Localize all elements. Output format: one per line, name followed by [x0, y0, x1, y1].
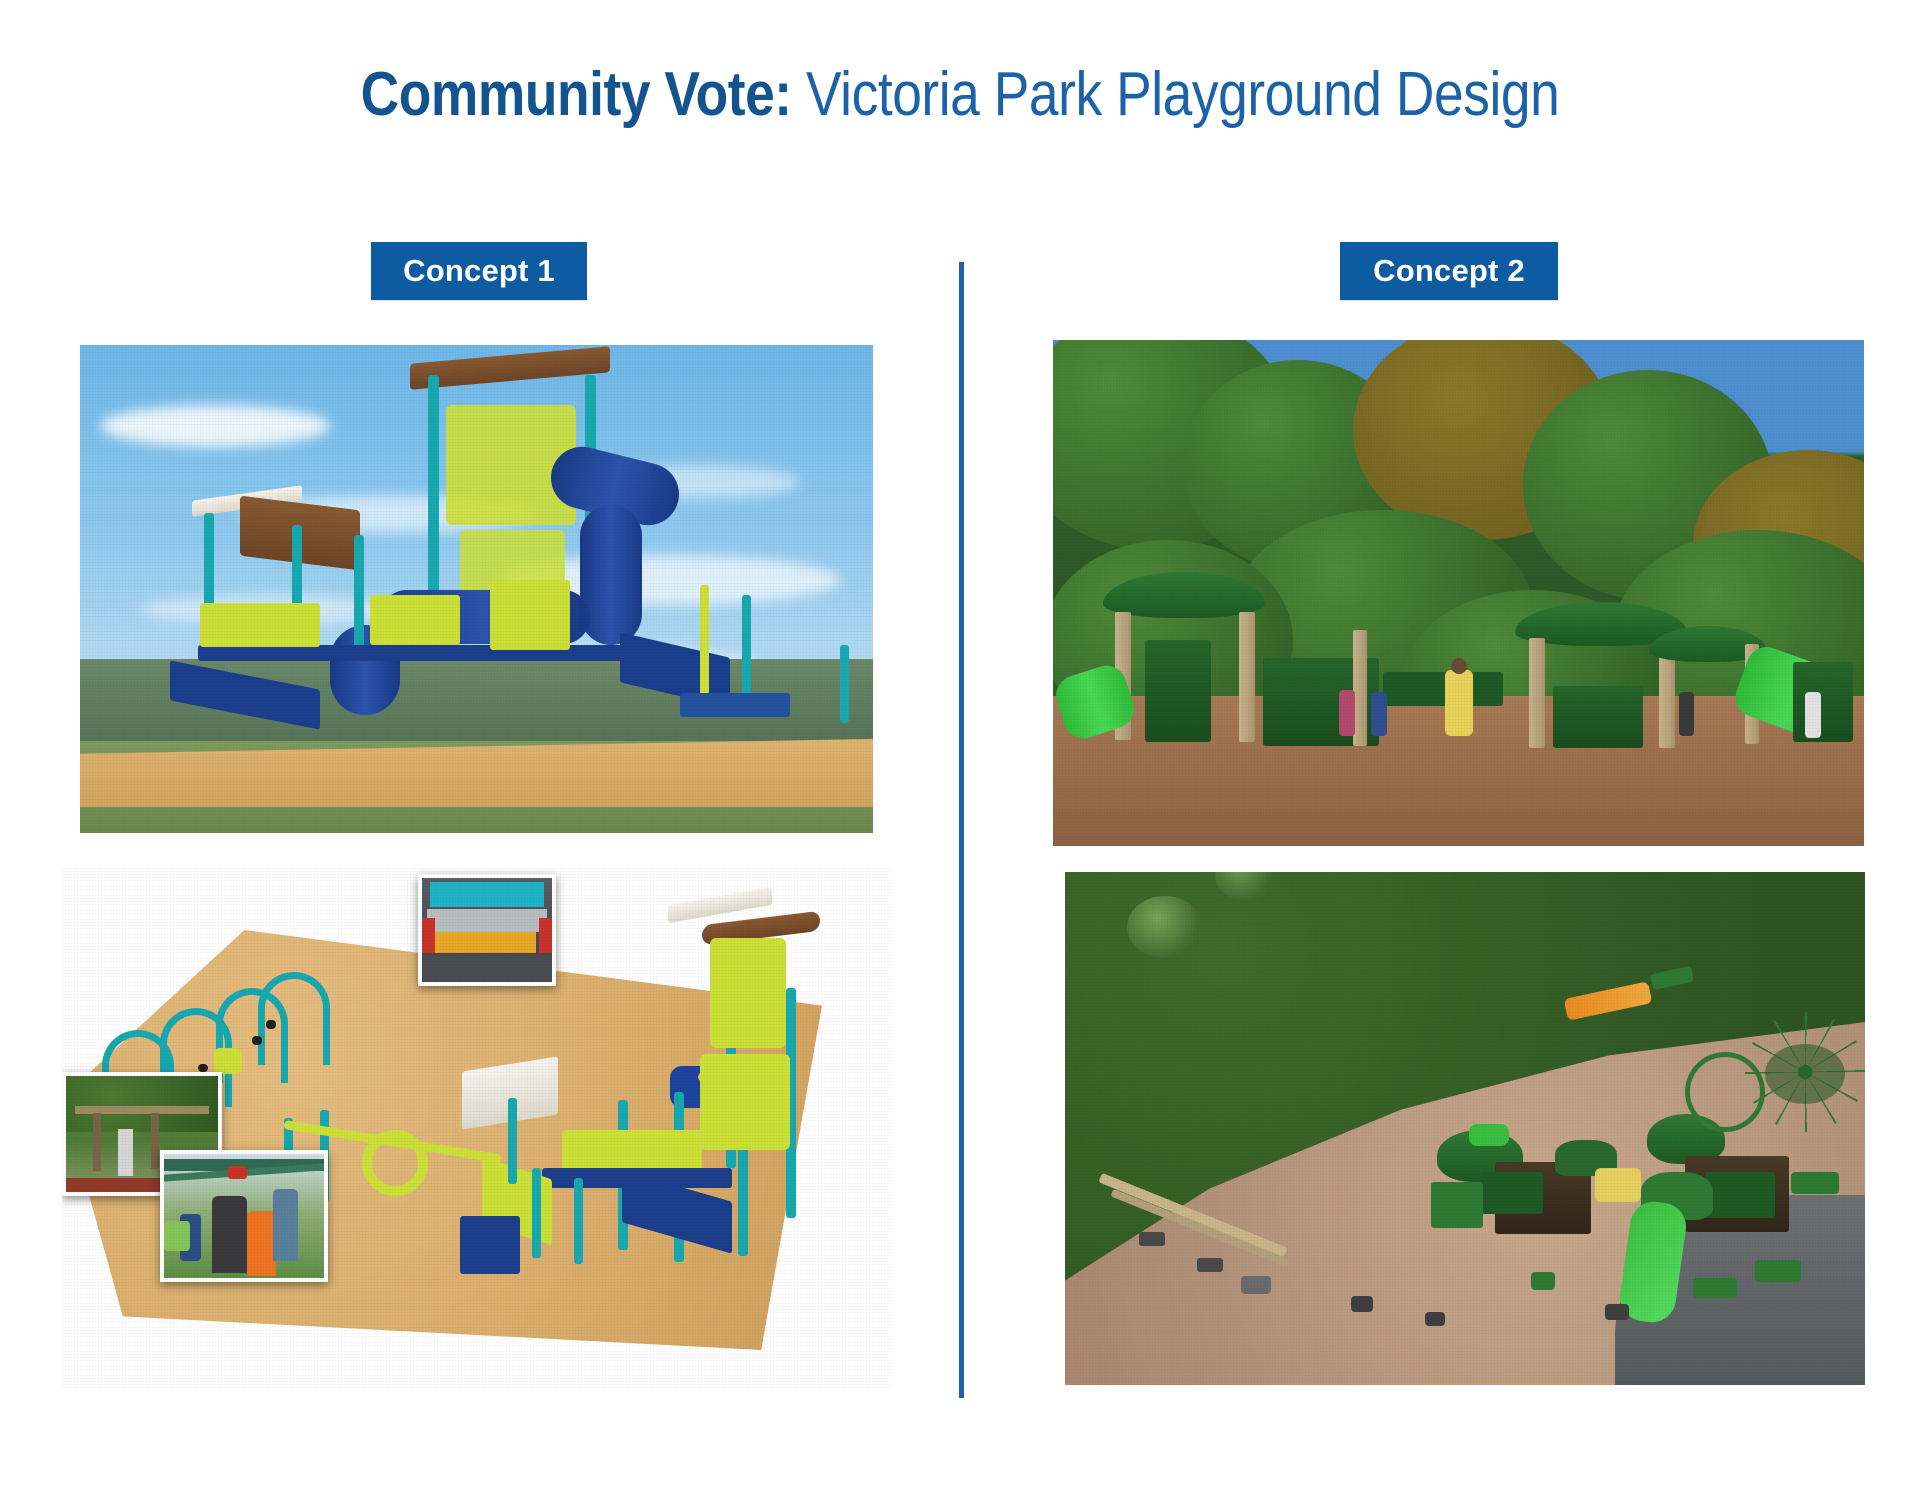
- bench-plan: [1693, 1278, 1737, 1298]
- page-title-strong: Community Vote:: [361, 60, 792, 129]
- concept-1-badge[interactable]: Concept 1: [371, 242, 587, 300]
- structure-post: [428, 375, 439, 625]
- structure-post: [742, 595, 751, 700]
- play-element-plan: [1425, 1312, 1445, 1326]
- guard-panel: [200, 603, 320, 647]
- swing-seat: [266, 1020, 276, 1029]
- structure-post: [840, 645, 849, 723]
- slide-plan: [1469, 1124, 1509, 1146]
- structure-post: [1239, 612, 1255, 742]
- swing-seat: [252, 1036, 262, 1045]
- child-figure: [1445, 670, 1473, 736]
- column-divider: [959, 262, 964, 1398]
- swing-seat-plan: [1197, 1258, 1223, 1272]
- play-element-plan: [1351, 1296, 1373, 1312]
- inset-equipment-detail[interactable]: [418, 874, 556, 986]
- swing-seat: [198, 1064, 208, 1072]
- structure-post: [574, 1178, 583, 1264]
- play-element-plan: [1531, 1272, 1555, 1290]
- swing-seat-plan: [1139, 1232, 1165, 1246]
- cloud: [100, 405, 330, 447]
- activity-panel: [1553, 686, 1643, 748]
- play-element-plan: [1605, 1304, 1629, 1320]
- child-figure: [1805, 692, 1821, 738]
- climbing-net: [710, 938, 786, 1048]
- activity-panel: [1145, 640, 1211, 742]
- concept-2-badge[interactable]: Concept 2: [1340, 242, 1558, 300]
- child-figure: [1679, 692, 1694, 736]
- inset-zipline-riders[interactable]: [160, 1150, 328, 1282]
- bridge-rail: [1383, 672, 1503, 706]
- page-title: Community Vote: Victoria Park Playground…: [134, 62, 1785, 127]
- deck: [680, 693, 790, 717]
- structure-post: [700, 585, 709, 695]
- guard-panel: [490, 580, 570, 650]
- child-figure: [1339, 690, 1355, 736]
- page-title-light: Victoria Park Playground Design: [792, 60, 1560, 129]
- concept-2-aerial-render[interactable]: [1065, 872, 1865, 1385]
- swing-seat-plan: [1241, 1276, 1271, 1294]
- concept-1-badge-label: Concept 1: [403, 253, 555, 289]
- activity-panel: [1793, 662, 1853, 742]
- concept-2-photo-render[interactable]: [1053, 340, 1864, 846]
- child-figure: [1371, 692, 1387, 736]
- panel-plan: [1481, 1172, 1543, 1214]
- swing-seat: [214, 1048, 242, 1074]
- net-climber-core: [1765, 1044, 1845, 1104]
- tree-plan-symbol: [1127, 896, 1203, 958]
- tube-slide: [580, 505, 642, 645]
- structure-post: [354, 535, 364, 660]
- bench-plan: [1791, 1172, 1839, 1194]
- swing-arch: [258, 972, 330, 1065]
- concept-1-photo-render[interactable]: [80, 345, 873, 833]
- structure-post: [508, 1098, 517, 1184]
- child-figure-plan: [1595, 1168, 1641, 1202]
- concept-2-badge-label: Concept 2: [1373, 253, 1525, 289]
- concept-1-plan-render[interactable]: [62, 868, 892, 1388]
- structure-post: [1353, 630, 1367, 746]
- structure-post: [1529, 638, 1545, 748]
- arch-climber-plan: [1685, 1052, 1765, 1132]
- guard-panel: [700, 1054, 790, 1150]
- guard-panel: [562, 1130, 702, 1172]
- panel-plan: [1705, 1172, 1775, 1218]
- bench-plan: [1755, 1260, 1801, 1282]
- panel: [460, 1216, 520, 1274]
- child-figure-head: [1451, 658, 1467, 674]
- structure-post: [532, 1168, 541, 1258]
- guard-panel: [370, 595, 460, 645]
- crawl-hoop: [362, 1130, 428, 1196]
- climber-plan: [1431, 1182, 1483, 1228]
